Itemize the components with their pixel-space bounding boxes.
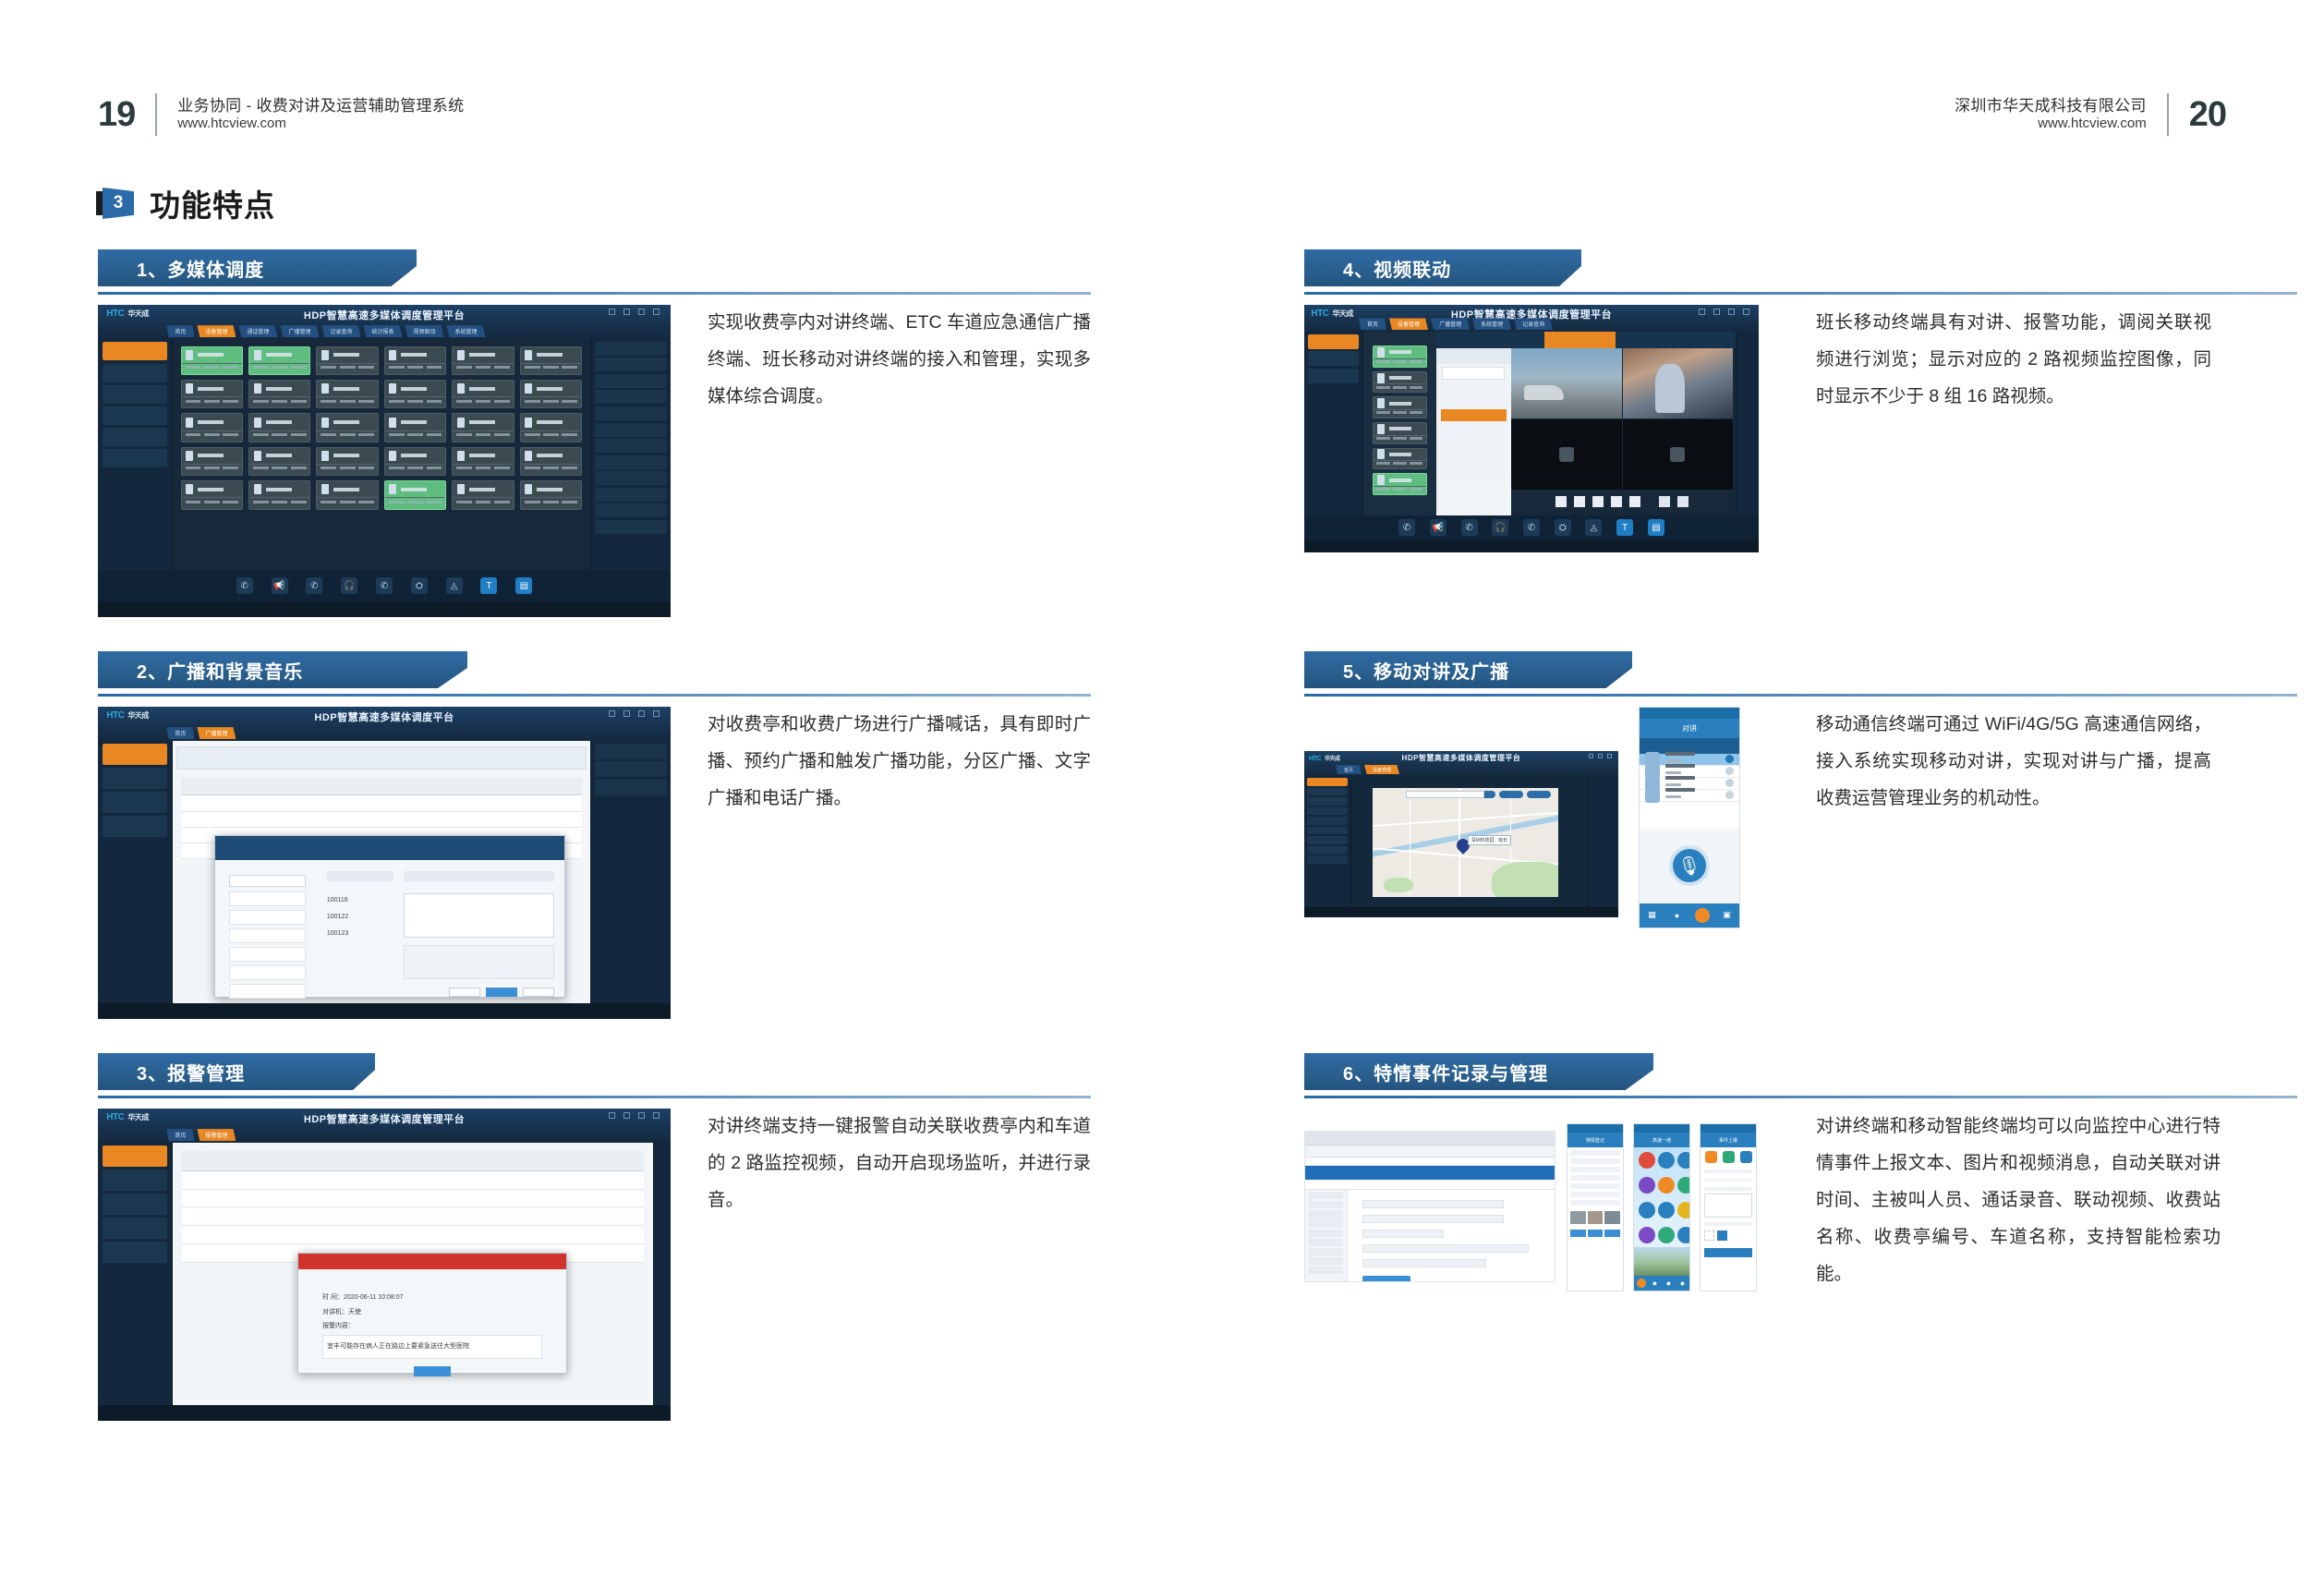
- app-icon-device-status[interactable]: [1677, 1177, 1690, 1194]
- header-left: 19 业务协同 - 收费对讲及运营辅助管理系统 www.htcview.com: [98, 81, 464, 148]
- page-title: 功能特点: [150, 181, 275, 225]
- feature-rule-5: [1304, 694, 2297, 697]
- footer-toolbar-1[interactable]: ✆ 📢 ✆ 🎧 ✆ ⛭ ◬ T ▤: [98, 570, 671, 601]
- feature-heading-3: 3、报警管理: [137, 1059, 245, 1085]
- feature-body-2: 对收费亭和收费广场进行广播喊话，具有即时广播、预约广播和触发广播功能，分区广播、…: [708, 707, 1091, 818]
- dialog-schedule-panel[interactable]: [404, 945, 554, 980]
- tab-broadcast-4[interactable]: 广播管理: [1431, 318, 1470, 330]
- map-search-input[interactable]: [1406, 791, 1484, 798]
- header-url-right: www.htcview.com: [1955, 115, 2147, 133]
- feature-ribbon-6: 6、特情事件记录与管理: [1304, 1053, 2297, 1105]
- call-icon-1[interactable]: ✆: [236, 577, 253, 594]
- tab-records-1[interactable]: 记录查询: [321, 325, 360, 337]
- table-row[interactable]: [181, 812, 583, 828]
- feature-ribbon-4: 4、视频联动: [1304, 249, 2297, 301]
- tab-home-1[interactable]: 首页: [166, 325, 194, 337]
- table-header-3: [182, 1151, 644, 1171]
- feature-ribbon-5: 5、移动对讲及广播: [1304, 651, 2297, 703]
- tab-map-5[interactable]: 设备管理: [1364, 765, 1399, 774]
- video-tile-empty[interactable]: [1623, 419, 1734, 490]
- broadcast-icon-1[interactable]: ◬: [446, 577, 463, 594]
- video-tile-lane[interactable]: [1511, 348, 1622, 418]
- report-type-photo-icon[interactable]: [1705, 1151, 1717, 1163]
- phone-tabbar[interactable]: ▦ ● ▣: [1640, 903, 1739, 927]
- alarm-field-value: 宜丰可能存在病人正在路边上要紧急送往大型医院: [322, 1335, 542, 1358]
- auto-call-icon-1[interactable]: ✆: [306, 577, 322, 594]
- tab-home-2[interactable]: 首页: [166, 727, 194, 739]
- force-call-icon-4[interactable]: ✆: [1523, 519, 1540, 536]
- feature-block-mobile-intercom: 5、移动对讲及广播 HTC华天成 HDP智慧高速多媒体调度管理平台 首页 设备管…: [1304, 651, 2297, 975]
- web-app-sidebar[interactable]: [1305, 1190, 1348, 1282]
- special-event-report-phone: 事件上报: [1700, 1123, 1757, 1291]
- tab-contacts[interactable]: ●: [1662, 1276, 1676, 1291]
- status-bar-2: [98, 1003, 671, 1019]
- feature-block-special-event: 6、特情事件记录与管理: [1304, 1053, 2297, 1321]
- feature-rule-3: [98, 1096, 1091, 1098]
- timed-broadcast-icon-1[interactable]: ▤: [515, 577, 532, 594]
- tab-settings[interactable]: ▣: [1714, 903, 1739, 927]
- call-log-panel-1[interactable]: [590, 339, 671, 570]
- alarm-field-label: 对讲机：: [322, 1309, 348, 1315]
- chevron-down-icon[interactable]: [1725, 779, 1734, 787]
- dialog-text-area[interactable]: [404, 893, 554, 938]
- window-controls-5[interactable]: [1589, 754, 1612, 758]
- app-icon-report[interactable]: [1639, 1177, 1655, 1194]
- tab-mine[interactable]: ●: [1676, 1276, 1689, 1291]
- feature-body-5: 移动通信终端可通过 WiFi/4G/5G 高速通信网络，接入系统实现移动对讲，实…: [1816, 707, 2211, 818]
- home-banner-image: [1634, 1247, 1689, 1275]
- phone-title: 事件上报: [1701, 1133, 1756, 1147]
- tab-message[interactable]: ●: [1664, 903, 1689, 927]
- feature-heading-1: 1、多媒体调度: [137, 255, 264, 282]
- ptt-area[interactable]: 🎙: [1640, 829, 1739, 903]
- header-title-left: 业务协同 - 收费对讲及运营辅助管理系统: [177, 96, 464, 115]
- web-app-form[interactable]: [1348, 1190, 1555, 1282]
- app-title-1: HDP智慧高速多媒体调度管理平台: [98, 308, 671, 322]
- feature-block-broadcast-bgm: 2、广播和背景音乐 HTC华天成 HDP智慧高速多媒体调度平台 首页 广播管理: [98, 651, 1091, 1030]
- header-divider-left: [155, 93, 157, 136]
- add-photo-slot[interactable]: [1704, 1230, 1714, 1241]
- window-controls-3[interactable]: [609, 1112, 660, 1119]
- sidebar-1[interactable]: [98, 339, 173, 570]
- feature-heading-4: 4、视频联动: [1343, 255, 1451, 282]
- tab-home[interactable]: [1634, 1276, 1648, 1291]
- text-broadcast-icon-4[interactable]: T: [1616, 519, 1633, 536]
- headset-icon-4[interactable]: 🎧: [1492, 519, 1508, 536]
- save-draft-button[interactable]: [1588, 1230, 1604, 1237]
- feature-body-6: 对讲终端和移动智能终端均可以向监控中心进行特情事件上报文本、图片和视频消息，自动…: [1816, 1109, 2221, 1293]
- alarm-field-value: 天使: [348, 1309, 361, 1315]
- feature-ribbon-1: 1、多媒体调度: [98, 249, 1091, 301]
- feature-body-3: 对讲终端支持一键报警自动关联收费亭内和车道的 2 路监控视频，自动开启现场监听，…: [708, 1109, 1091, 1219]
- snapshot-icon[interactable]: [1659, 496, 1670, 507]
- tab-intercom[interactable]: ▦: [1640, 903, 1664, 927]
- app-icon-broadcast[interactable]: [1658, 1177, 1675, 1194]
- table-row[interactable]: [181, 795, 583, 811]
- selected-item[interactable]: 100116: [327, 892, 393, 909]
- phone-status-bar: [1640, 708, 1739, 719]
- app-icon-video-monitor[interactable]: [1658, 1152, 1675, 1169]
- web-app-header: [1305, 1166, 1555, 1180]
- status-bar-1: [98, 601, 671, 617]
- feature-rule-6: [1304, 1096, 2297, 1098]
- feature-rule-1: [98, 292, 1091, 295]
- app-icon-special-report[interactable]: [1639, 1152, 1655, 1169]
- mobile-intercom-map-screenshot: HTC华天成 HDP智慧高速多媒体调度管理平台 首页 设备管理: [1304, 751, 1618, 917]
- play-icon[interactable]: [1559, 447, 1574, 462]
- play-icon[interactable]: [1670, 447, 1685, 462]
- dialog-cancel-button[interactable]: [523, 988, 554, 997]
- dialog-search-input[interactable]: [229, 875, 306, 887]
- video-linkage-screenshot: HTC华天成 HDP智慧高速多媒体调度管理平台 首页 设备管理 广播管理 系统管…: [1304, 305, 1759, 552]
- app-icon-duty[interactable]: [1658, 1227, 1675, 1243]
- tab-device-4[interactable]: 设备管理: [1389, 318, 1428, 330]
- tab-ptt[interactable]: [1689, 903, 1714, 927]
- selected-item[interactable]: 100123: [327, 926, 393, 942]
- app-tabs-5[interactable]: 首页 设备管理: [1336, 765, 1399, 774]
- conference-icon-1[interactable]: ⛭: [411, 577, 428, 594]
- chevron-down-icon[interactable]: [1725, 791, 1734, 799]
- app-title-3: HDP智慧高速多媒体调度管理平台: [98, 1111, 671, 1126]
- phone-status-bar: [1567, 1124, 1623, 1133]
- layout-1-icon[interactable]: [1555, 496, 1567, 507]
- app-title-2: HDP智慧高速多媒体调度平台: [98, 709, 671, 724]
- event-report-form[interactable]: [1701, 1147, 1756, 1291]
- feature-block-alarm-management: 3、报警管理 HTC华天成 HDP智慧高速多媒体调度管理平台 首页 报警管理: [98, 1053, 1091, 1432]
- conference-icon-4[interactable]: ⛭: [1555, 519, 1571, 536]
- video-panel-title: [1544, 332, 1616, 348]
- special-event-detail-phone: 特情登记: [1567, 1123, 1624, 1291]
- chevron-down-icon[interactable]: [1725, 755, 1734, 763]
- video-tile-booth[interactable]: [1623, 348, 1734, 418]
- feature-heading-2: 2、广播和背景音乐: [137, 657, 303, 684]
- auto-call-icon-4[interactable]: ✆: [1461, 519, 1478, 536]
- tab-workbench[interactable]: ●: [1648, 1276, 1662, 1291]
- feature-body-1: 实现收费亭内对讲终端、ETC 车道应急通信广播终端、班长移动对讲终端的接入和管理…: [708, 305, 1091, 416]
- device-grid-1[interactable]: [173, 339, 591, 570]
- tab-alarm-3[interactable]: 报警管理: [197, 1129, 236, 1141]
- tab-broadcast-2[interactable]: 广播管理: [197, 727, 236, 739]
- tab-video-1[interactable]: 视频联动: [405, 325, 443, 337]
- table-header-2: [181, 778, 583, 795]
- call-icon-4[interactable]: ✆: [1398, 519, 1415, 536]
- video-grid-4[interactable]: [1511, 348, 1733, 490]
- phone-status-bar: [1634, 1124, 1689, 1133]
- list-item[interactable]: [1640, 790, 1739, 802]
- multimedia-dispatch-screenshot: HTC华天成 HDP智慧高速多媒体调度管理平台 首页 设备管理 通话管理 广播管…: [98, 305, 671, 617]
- table-row[interactable]: [182, 1207, 644, 1226]
- feature-rule-4: [1304, 292, 2297, 295]
- section-badge-number: 3: [103, 188, 134, 219]
- app-home-grid[interactable]: [1634, 1147, 1689, 1276]
- window-controls-4[interactable]: [1699, 309, 1749, 315]
- device-list-4[interactable]: [1363, 332, 1436, 515]
- report-type-voice-icon[interactable]: [1740, 1151, 1752, 1163]
- dialog-finish-button[interactable]: [486, 988, 517, 997]
- photo-thumb[interactable]: [1604, 1211, 1620, 1224]
- video-panel-4[interactable]: [1436, 332, 1737, 515]
- timed-broadcast-icon-4[interactable]: ▤: [1648, 519, 1664, 536]
- phone-status-bar: [1701, 1124, 1756, 1133]
- broadcast-table-2[interactable]: 100116 100122 100123: [173, 741, 591, 1003]
- video-tile-empty[interactable]: [1511, 419, 1622, 490]
- broadcast-icon-4[interactable]: ◬: [1585, 519, 1602, 536]
- section-badge-bar: [96, 191, 103, 215]
- app-icon-exit[interactable]: [1677, 1227, 1690, 1243]
- add-broadcast-dialog[interactable]: 100116 100122 100123: [214, 835, 565, 998]
- event-detail-body[interactable]: [1567, 1147, 1623, 1291]
- app-icon-statistics[interactable]: [1677, 1202, 1690, 1218]
- status-bar-4: [1304, 540, 1759, 552]
- sidebar-5[interactable]: [1304, 776, 1351, 907]
- section-badge: 3: [96, 188, 137, 219]
- force-call-icon-1[interactable]: ✆: [376, 577, 393, 594]
- megaphone-icon-1[interactable]: 📢: [272, 577, 288, 594]
- photo-thumb[interactable]: [1570, 1211, 1586, 1224]
- tab-system-1[interactable]: 系统管理: [447, 325, 486, 337]
- alarm-field-label: 时 间：: [322, 1294, 344, 1301]
- layout-4-icon[interactable]: [1574, 496, 1585, 507]
- tab-broadcast-1[interactable]: 广播管理: [280, 325, 319, 337]
- map-pin-label: 深圳科技园 · 班长: [1468, 835, 1511, 845]
- special-event-browser-screenshot: [1304, 1131, 1555, 1282]
- status-bar-5: [1304, 907, 1618, 917]
- map-panel-5[interactable]: 深圳科技园 · 班长: [1351, 776, 1587, 907]
- avatar: [1645, 788, 1660, 803]
- dialog-text-panel[interactable]: [400, 860, 564, 997]
- table-row[interactable]: [182, 1171, 644, 1190]
- phone-title: 高速一通: [1634, 1133, 1689, 1147]
- query-button[interactable]: [1362, 1276, 1410, 1282]
- browser-url-bar[interactable]: [1305, 1146, 1555, 1158]
- browser-bookmarks[interactable]: [1305, 1158, 1555, 1167]
- app-tabs-1[interactable]: 首页 设备管理 通话管理 广播管理 记录查询 统计报表 视频联动 系统管理: [166, 325, 485, 337]
- tab-home-4[interactable]: 首页: [1359, 318, 1386, 330]
- feature-rule-2: [98, 694, 1091, 697]
- dialog-selected-list[interactable]: 100116 100122 100123: [320, 860, 400, 997]
- web-app-nav[interactable]: [1305, 1180, 1555, 1190]
- tab-records-4[interactable]: 记录查询: [1514, 318, 1553, 330]
- page-number-left: 19: [98, 97, 135, 132]
- header-divider-right: [2167, 93, 2169, 136]
- alarm-dialog-titlebar: [298, 1254, 566, 1269]
- alarm-field-value: 2020-06-11 10:08:07: [344, 1294, 403, 1301]
- fullscreen-icon[interactable]: [1677, 496, 1689, 507]
- report-submit-button[interactable]: [1704, 1248, 1753, 1257]
- alarm-table-3[interactable]: 时 间：2020-06-11 10:08:07 对讲机：天使 报警内容： 宜丰可…: [173, 1143, 654, 1405]
- brochure-page: 19 业务协同 - 收费对讲及运营辅助管理系统 www.htcview.com …: [0, 0, 2324, 1588]
- microphone-icon[interactable]: 🎙: [1669, 845, 1710, 886]
- window-controls-2[interactable]: [609, 710, 660, 717]
- feature-block-video-linkage: 4、视频联动 HTC华天成 HDP智慧高速多媒体调度管理平台 首页 设备管理 广…: [1304, 249, 2297, 573]
- table-row[interactable]: [182, 1226, 644, 1244]
- page-header: 19 业务协同 - 收费对讲及运营辅助管理系统 www.htcview.com …: [0, 81, 2324, 148]
- chevron-down-icon[interactable]: [1725, 767, 1734, 775]
- feature-heading-5: 5、移动对讲及广播: [1343, 657, 1509, 684]
- right-rail-3: [653, 1143, 671, 1405]
- layout-9-icon[interactable]: [1592, 496, 1604, 507]
- layout-6-icon[interactable]: [1611, 496, 1622, 507]
- video-layout-toolbar[interactable]: [1511, 493, 1733, 510]
- right-rail-5: [1587, 776, 1618, 907]
- megaphone-icon-4[interactable]: 📢: [1430, 519, 1446, 536]
- camera-tree-4[interactable]: [1436, 348, 1511, 515]
- broadcast-screenshot: HTC华天成 HDP智慧高速多媒体调度平台 首页 广播管理: [98, 707, 671, 1019]
- video-panel-titlebar: [1436, 332, 1737, 348]
- report-type-video-icon[interactable]: [1723, 1151, 1735, 1163]
- add-photo-button[interactable]: [1717, 1230, 1727, 1241]
- feature-heading-6: 6、特情事件记录与管理: [1343, 1059, 1548, 1085]
- right-rail-4: [1736, 332, 1759, 515]
- text-broadcast-icon-1[interactable]: T: [480, 577, 497, 594]
- section-heading: 3 功能特点: [96, 181, 275, 225]
- event-photo-strip[interactable]: [1570, 1211, 1620, 1224]
- app-icon-intercom[interactable]: [1677, 1152, 1690, 1169]
- description-textarea[interactable]: [1704, 1194, 1753, 1218]
- phone-title: 特情登记: [1567, 1133, 1623, 1147]
- app-title-5: HDP智慧高速多媒体调度管理平台: [1304, 753, 1618, 763]
- footer-toolbar-4[interactable]: ✆ 📢 ✆ 🎧 ✆ ⛭ ◬ T ▤: [1304, 515, 1759, 540]
- cancel-button[interactable]: [1604, 1230, 1620, 1237]
- alarm-management-screenshot: HTC华天成 HDP智慧高速多媒体调度管理平台 首页 报警管理: [98, 1109, 671, 1421]
- app-tabs-4[interactable]: 首页 设备管理 广播管理 系统管理 记录查询: [1359, 318, 1553, 330]
- app-icon-messages[interactable]: [1639, 1202, 1655, 1218]
- feature-ribbon-2: 2、广播和背景音乐: [98, 651, 1091, 703]
- browser-tabstrip[interactable]: [1305, 1132, 1555, 1146]
- tab-home-3[interactable]: 首页: [166, 1129, 194, 1141]
- app-icon-shift[interactable]: [1639, 1227, 1655, 1243]
- header-right: 深圳市华天成科技有限公司 www.htcview.com 20: [1955, 81, 2226, 148]
- feature-block-multimedia-dispatch: 1、多媒体调度 HTC华天成 HDP智慧高速多媒体调度管理平台 首页 设备管理 …: [98, 249, 1091, 628]
- app-tabs-3[interactable]: 首页 报警管理: [166, 1129, 236, 1141]
- alarm-confirm-button[interactable]: [414, 1366, 451, 1376]
- mobile-intercom-phone: 对讲: [1639, 707, 1740, 928]
- tab-system-4[interactable]: 系统管理: [1472, 318, 1511, 330]
- alarm-dialog[interactable]: 时 间：2020-06-11 10:08:07 对讲机：天使 报警内容： 宜丰可…: [297, 1253, 567, 1374]
- map-canvas[interactable]: 深圳科技园 · 班长: [1373, 788, 1558, 897]
- alarm-field-label: 报警内容：: [322, 1323, 355, 1329]
- tab-reports-1[interactable]: 统计报表: [363, 325, 402, 337]
- sidebar-3[interactable]: [98, 1143, 173, 1405]
- submit-review-button[interactable]: [1570, 1230, 1586, 1237]
- status-bar-3: [98, 1405, 671, 1421]
- table-row[interactable]: [182, 1190, 644, 1208]
- dialog-prev-button[interactable]: [449, 988, 480, 997]
- feature-body-4: 班长移动终端具有对讲、报警功能，调阅关联视频进行浏览；显示对应的 2 路视频监控…: [1816, 305, 2211, 416]
- window-controls-1[interactable]: [609, 309, 660, 315]
- header-company-right: 深圳市华天成科技有限公司: [1955, 96, 2147, 115]
- filter-bar-2[interactable]: [176, 746, 587, 770]
- headset-icon-1[interactable]: 🎧: [341, 577, 357, 594]
- dialog-titlebar-2: [215, 836, 564, 860]
- app-icon-maintenance[interactable]: [1658, 1202, 1675, 1218]
- header-url-left: www.htcview.com: [177, 115, 464, 133]
- phone-title: 对讲: [1640, 719, 1739, 738]
- phone-tabbar[interactable]: ● ● ●: [1634, 1276, 1689, 1291]
- layout-16-icon[interactable]: [1629, 496, 1640, 507]
- tab-call-1[interactable]: 通话管理: [238, 325, 277, 337]
- tab-device-1[interactable]: 设备管理: [197, 325, 236, 337]
- photo-thumb[interactable]: [1588, 1211, 1604, 1224]
- map-fence-button[interactable]: [1499, 791, 1523, 798]
- selected-item[interactable]: 100122: [327, 909, 393, 926]
- page-number-right: 20: [2189, 97, 2226, 132]
- phone-contact-list[interactable]: [1640, 754, 1739, 829]
- special-event-home-phone: 高速一通: [1633, 1123, 1690, 1291]
- map-measure-button[interactable]: [1527, 791, 1551, 798]
- tab-home-5[interactable]: 首页: [1336, 765, 1362, 774]
- feature-ribbon-3: 3、报警管理: [98, 1053, 1091, 1105]
- sidebar-2[interactable]: [98, 741, 173, 1003]
- sidebar-4[interactable]: [1304, 332, 1363, 515]
- app-tabs-2[interactable]: 首页 广播管理: [166, 727, 236, 739]
- event-detail-buttons[interactable]: [1570, 1230, 1620, 1237]
- call-log-panel-2[interactable]: [590, 741, 671, 1003]
